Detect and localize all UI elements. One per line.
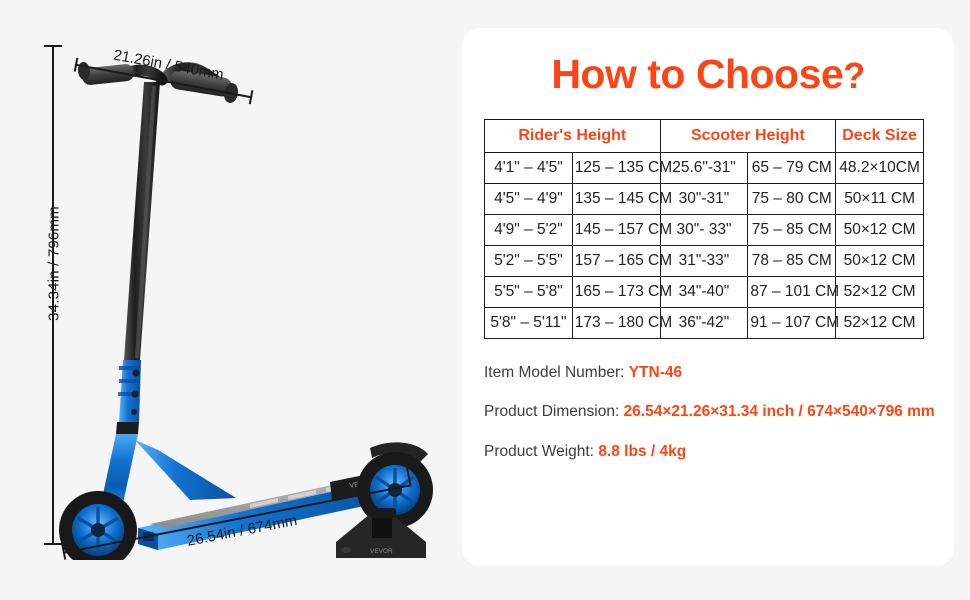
height-dimension-cap-top — [44, 45, 62, 47]
table-cell-r4-c4: 52×12 CM — [836, 277, 924, 308]
table-cell-r3-c1: 157 – 165 CM — [572, 246, 660, 277]
table-cell-r0-c0: 4'1" – 4'5" — [485, 153, 573, 184]
table-cell-r2-c1: 145 – 157 CM — [572, 215, 660, 246]
table-cell-r1-c1: 135 – 145 CM — [572, 184, 660, 215]
card-title-text: How to Choose — [551, 51, 843, 97]
table-cell-r4-c2: 34"-40" — [660, 277, 748, 308]
spec-row-1: Product Dimension: 26.54×21.26×31.34 inc… — [484, 400, 936, 423]
svg-text:VEVOR: VEVOR — [370, 548, 393, 555]
table-cell-r1-c4: 50×11 CM — [836, 184, 924, 215]
card-title-question-mark: ? — [843, 55, 865, 96]
spec-value-1: 26.54×21.26×31.34 inch / 674×540×796 mm — [624, 403, 935, 420]
column-header-deck-size: Deck Size — [836, 120, 924, 153]
product-spec-list: Item Model Number: YTN-46Product Dimensi… — [484, 361, 936, 463]
table-cell-r5-c0: 5'8" – 5'11" — [485, 308, 573, 339]
table-row: 5'8" – 5'11"173 – 180 CM36"-42"91 – 107 … — [485, 308, 924, 339]
table-cell-r0-c4: 48.2×10CM — [836, 153, 924, 184]
table-row: 5'2" – 5'5"157 – 165 CM31"-33"78 – 85 CM… — [485, 246, 924, 277]
table-cell-r0-c3: 65 – 79 CM — [748, 153, 836, 184]
steerer-tube — [124, 82, 160, 360]
headset-collar — [116, 422, 139, 434]
table-cell-r2-c4: 50×12 CM — [836, 215, 924, 246]
down-tube — [135, 440, 236, 500]
table-cell-r0-c2: 25.6"-31" — [660, 153, 748, 184]
spec-label-1: Product Dimension: — [484, 403, 624, 420]
table-cell-r4-c1: 165 – 173 CM — [572, 277, 660, 308]
size-chart-body: 4'1" – 4'5"125 – 135 CM25.6"-31"65 – 79 … — [485, 153, 924, 339]
table-cell-r2-c3: 75 – 85 CM — [748, 215, 836, 246]
table-cell-r3-c3: 78 – 85 CM — [748, 246, 836, 277]
column-header-riders-height: Rider's Height — [485, 120, 661, 153]
table-cell-r5-c3: 91 – 107 CM — [748, 308, 836, 339]
table-cell-r0-c1: 125 – 135 CM — [572, 153, 660, 184]
card-title: How to Choose? — [462, 54, 954, 95]
table-cell-r4-c3: 87 – 101 CM — [748, 277, 836, 308]
height-dimension-cap-bottom — [44, 543, 62, 545]
table-header-row: Rider's Height Scooter Height Deck Size — [485, 120, 924, 153]
spec-label-0: Item Model Number: — [484, 364, 629, 381]
product-image-panel: VEVOR — [0, 0, 455, 600]
spec-label-2: Product Weight: — [484, 443, 598, 460]
table-cell-r2-c0: 4'9" – 5'2" — [485, 215, 573, 246]
table-row: 4'1" – 4'5"125 – 135 CM25.6"-31"65 – 79 … — [485, 153, 924, 184]
table-row: 4'9" – 5'2"145 – 157 CM30"- 33"75 – 85 C… — [485, 215, 924, 246]
spec-value-0: YTN-46 — [629, 364, 682, 381]
table-row: 5'5" – 5'8"165 – 173 CM34"-40"87 – 101 C… — [485, 277, 924, 308]
scooter-illustration: VEVOR — [40, 30, 440, 560]
size-chart-table: Rider's Height Scooter Height Deck Size … — [484, 119, 924, 339]
table-cell-r5-c4: 52×12 CM — [836, 308, 924, 339]
spec-value-2: 8.8 lbs / 4kg — [598, 443, 686, 460]
infographic-root: VEVOR — [0, 0, 970, 600]
table-cell-r1-c3: 75 – 80 CM — [748, 184, 836, 215]
table-cell-r1-c2: 30"-31" — [660, 184, 748, 215]
table-cell-r5-c1: 173 – 180 CM — [572, 308, 660, 339]
table-cell-r5-c2: 36"-42" — [660, 308, 748, 339]
height-dimension-label: 34.34in / 796mm — [46, 184, 63, 344]
table-cell-r3-c2: 31"-33" — [660, 246, 748, 277]
how-to-choose-card: How to Choose? Rider's Height Scooter He… — [462, 28, 954, 566]
spec-row-2: Product Weight: 8.8 lbs / 4kg — [484, 440, 936, 463]
table-cell-r2-c2: 30"- 33" — [660, 215, 748, 246]
table-row: 4'5" – 4'9"135 – 145 CM30"-31"75 – 80 CM… — [485, 184, 924, 215]
table-cell-r3-c4: 50×12 CM — [836, 246, 924, 277]
table-cell-r1-c0: 4'5" – 4'9" — [485, 184, 573, 215]
spec-row-0: Item Model Number: YTN-46 — [484, 361, 936, 384]
column-header-scooter-height: Scooter Height — [660, 120, 836, 153]
size-chart-head: Rider's Height Scooter Height Deck Size — [485, 120, 924, 153]
clamp — [118, 360, 141, 422]
table-cell-r3-c0: 5'2" – 5'5" — [485, 246, 573, 277]
table-cell-r4-c0: 5'5" – 5'8" — [485, 277, 573, 308]
